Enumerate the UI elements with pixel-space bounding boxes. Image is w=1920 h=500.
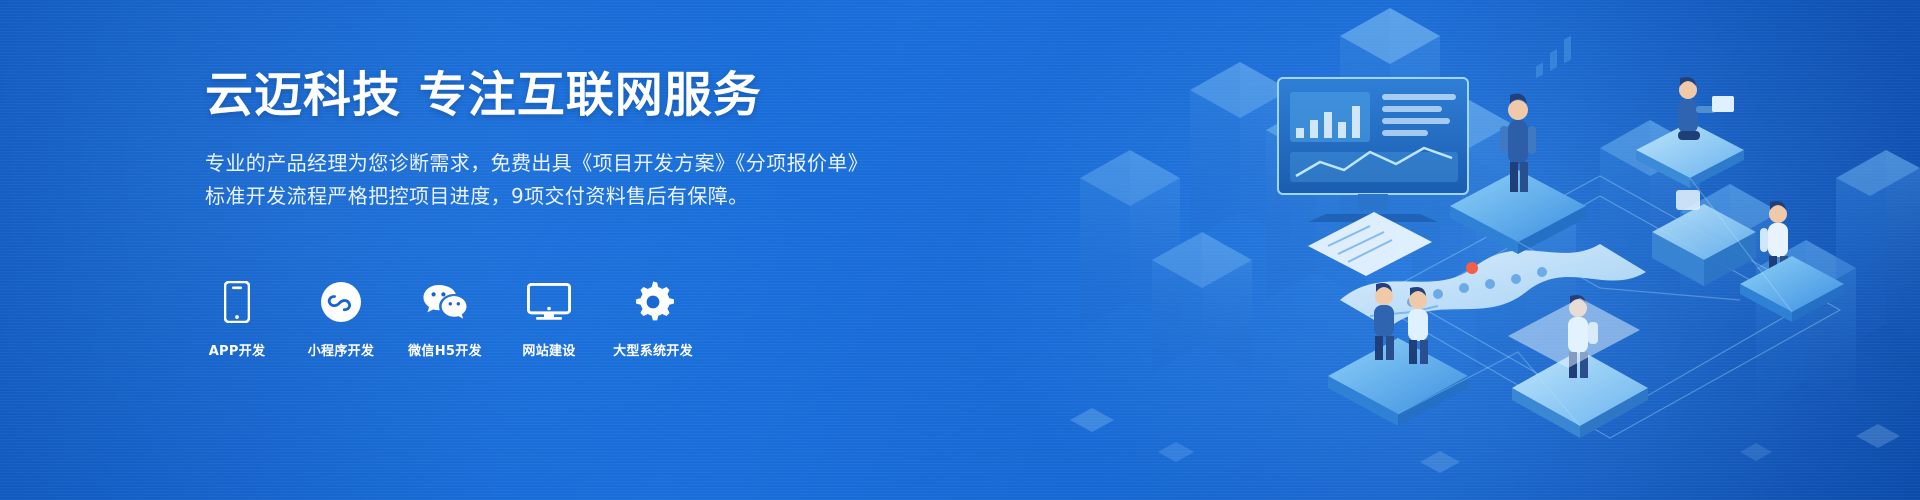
service-item-website[interactable]: 网站建设 — [512, 280, 586, 359]
banner-content: 云迈科技 专注互联网服务 专业的产品经理为您诊断需求，免费出具《项目开发方案》《… — [205, 66, 965, 213]
service-item-wechat-h5[interactable]: 微信H5开发 — [408, 280, 482, 359]
mobile-phone-icon — [224, 280, 250, 324]
service-label: APP开发 — [209, 340, 266, 359]
service-label: 小程序开发 — [308, 340, 375, 359]
service-label: 微信H5开发 — [408, 340, 482, 359]
illustration — [1040, 0, 1920, 500]
wechat-icon — [422, 280, 468, 324]
gear-icon — [632, 280, 674, 324]
banner-subtitle: 专业的产品经理为您诊断需求，免费出具《项目开发方案》《分项报价单》 标准开发流程… — [205, 147, 965, 213]
service-item-large-system[interactable]: 大型系统开发 — [616, 280, 690, 359]
service-list: APP开发 小程序开发 微信 — [200, 280, 690, 359]
monitor-icon — [527, 280, 571, 324]
service-label: 网站建设 — [522, 340, 575, 359]
subtitle-line-1: 专业的产品经理为您诊断需求，免费出具《项目开发方案》《分项报价单》 — [205, 147, 965, 180]
page-title: 云迈科技 专注互联网服务 — [205, 66, 965, 125]
mini-program-icon — [320, 280, 362, 324]
subtitle-line-2: 标准开发流程严格把控项目进度，9项交付资料售后有保障。 — [205, 180, 965, 213]
service-label: 大型系统开发 — [613, 340, 693, 359]
service-item-mini-program[interactable]: 小程序开发 — [304, 280, 378, 359]
hero-banner: 云迈科技 专注互联网服务 专业的产品经理为您诊断需求，免费出具《项目开发方案》《… — [0, 0, 1920, 500]
service-item-app[interactable]: APP开发 — [200, 280, 274, 359]
